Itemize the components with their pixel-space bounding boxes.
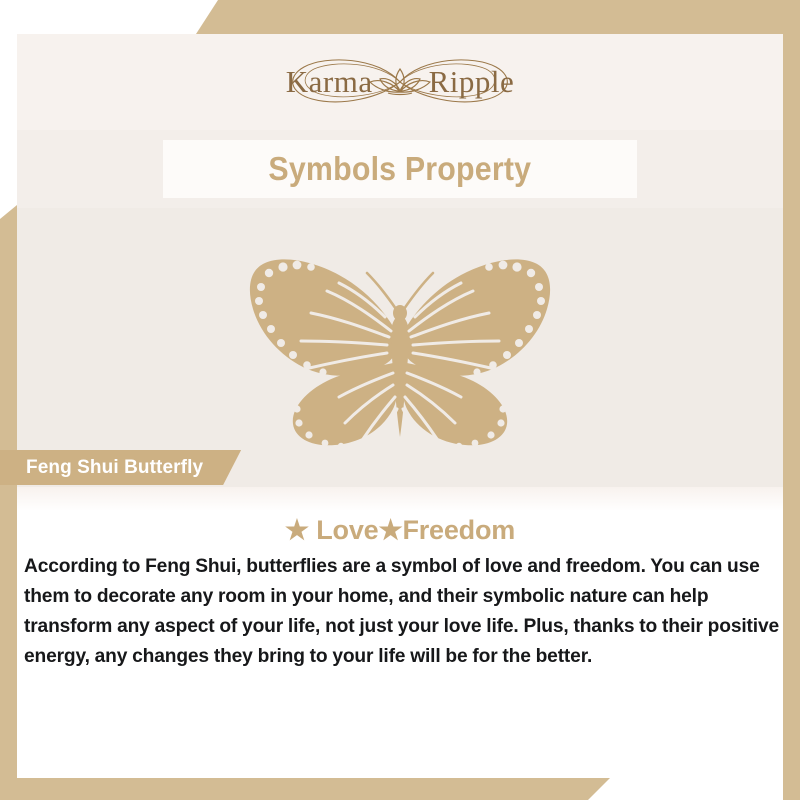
butterfly-illustration-wrap bbox=[230, 233, 570, 463]
content-fade bbox=[17, 487, 783, 511]
brand-logo: Karma Ripple bbox=[250, 49, 550, 115]
frame-right-band bbox=[783, 0, 800, 800]
content-subheading: ★ Love★Freedom bbox=[17, 515, 783, 546]
brand-word-left: Karma bbox=[286, 64, 373, 100]
page-title: Symbols Property bbox=[269, 150, 532, 188]
frame-left-band bbox=[0, 205, 17, 800]
title-banner: Symbols Property bbox=[163, 140, 637, 198]
content-paragraph: According to Feng Shui, butterflies are … bbox=[24, 552, 786, 672]
infographic-page: Karma Ripple Symbols Property bbox=[0, 0, 800, 800]
content-section: ★ Love★Freedom According to Feng Shui, b… bbox=[17, 487, 783, 778]
frame-top-band bbox=[196, 0, 800, 34]
frame-bottom-band bbox=[0, 778, 610, 800]
section-tag-label: Feng Shui Butterfly bbox=[26, 457, 203, 479]
page-header: Karma Ripple bbox=[17, 34, 783, 130]
butterfly-icon bbox=[235, 237, 565, 459]
brand-wordmark: Karma Ripple bbox=[286, 64, 515, 100]
hero-image-panel bbox=[17, 208, 783, 487]
section-tag: Feng Shui Butterfly bbox=[0, 450, 241, 485]
brand-word-right: Ripple bbox=[429, 64, 515, 100]
